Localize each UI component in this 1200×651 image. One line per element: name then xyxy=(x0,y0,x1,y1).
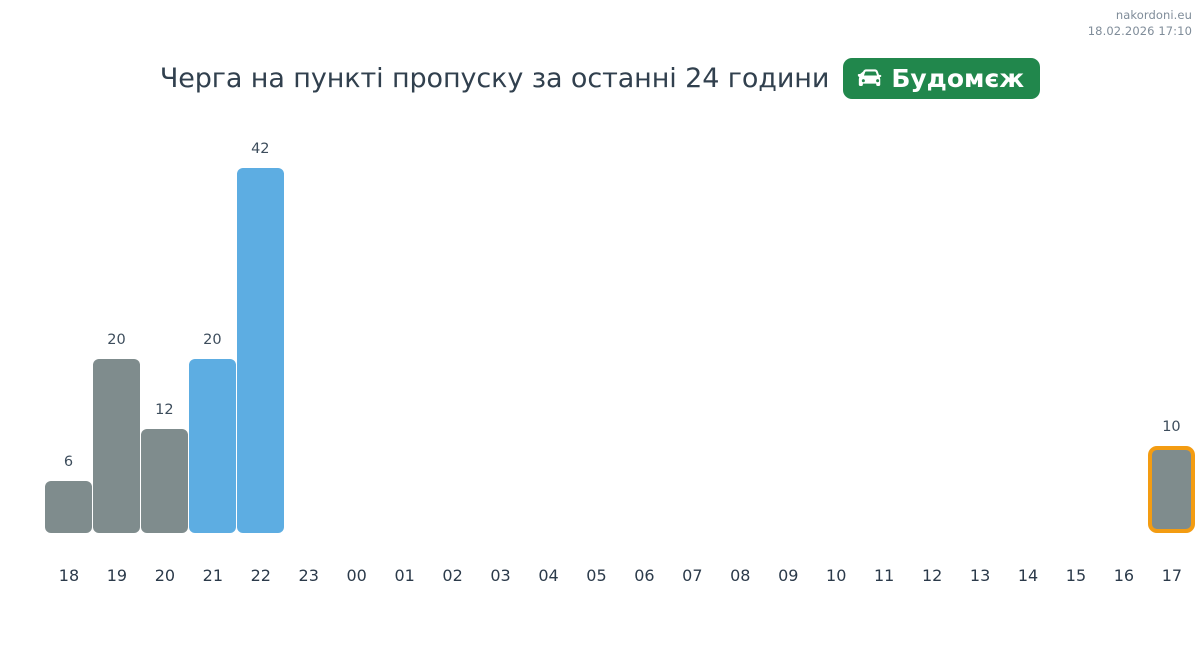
x-axis-tick-label: 10 xyxy=(813,566,860,585)
bar-slot xyxy=(668,130,716,533)
x-axis-tick-label: 19 xyxy=(93,566,140,585)
bar-slot xyxy=(1052,130,1100,533)
bar-value-label: 10 xyxy=(1148,420,1195,435)
bar-value-label: 12 xyxy=(141,403,188,418)
x-axis-tick: 09 xyxy=(764,566,812,585)
bar-slot xyxy=(525,130,573,533)
x-axis: 1819202122230001020304050607080910111213… xyxy=(45,566,1196,585)
x-axis-tick-label: 07 xyxy=(669,566,716,585)
x-axis-tick-label: 13 xyxy=(957,566,1004,585)
bar-slot xyxy=(908,130,956,533)
x-axis-tick-label: 14 xyxy=(1005,566,1052,585)
bar-slot: 10 xyxy=(1148,130,1196,533)
x-axis-tick: 12 xyxy=(908,566,956,585)
x-axis-tick-label: 18 xyxy=(45,566,92,585)
x-axis-tick: 17 xyxy=(1148,566,1196,585)
x-axis-tick-label: 15 xyxy=(1052,566,1099,585)
x-axis-tick-label: 21 xyxy=(189,566,236,585)
x-axis-tick-label: 20 xyxy=(141,566,188,585)
bar-slot: 6 xyxy=(45,130,93,533)
x-axis-tick: 20 xyxy=(141,566,189,585)
watermark-site: nakordoni.eu xyxy=(1088,8,1192,24)
bar-slot: 20 xyxy=(93,130,141,533)
chart-page: nakordoni.eu 18.02.2026 17:10 Черга на п… xyxy=(0,0,1200,651)
x-axis-tick: 05 xyxy=(572,566,620,585)
bar-slot xyxy=(716,130,764,533)
bar-value-label: 6 xyxy=(45,455,92,470)
x-axis-tick-label: 17 xyxy=(1148,566,1195,585)
bar-slot xyxy=(860,130,908,533)
x-axis-tick-label: 06 xyxy=(621,566,668,585)
x-axis-tick: 07 xyxy=(668,566,716,585)
x-axis-tick-label: 09 xyxy=(765,566,812,585)
x-axis-tick-label: 01 xyxy=(381,566,428,585)
x-axis-tick: 06 xyxy=(620,566,668,585)
bar-slot xyxy=(956,130,1004,533)
bar-value-label: 20 xyxy=(93,333,140,348)
x-axis-tick: 01 xyxy=(381,566,429,585)
x-axis-tick: 11 xyxy=(860,566,908,585)
x-axis-tick-label: 05 xyxy=(573,566,620,585)
watermark: nakordoni.eu 18.02.2026 17:10 xyxy=(1088,8,1192,39)
bar-value-label: 42 xyxy=(237,142,284,157)
title-row: Черга на пункті пропуску за останні 24 г… xyxy=(0,58,1200,99)
x-axis-tick: 04 xyxy=(525,566,573,585)
x-axis-tick: 02 xyxy=(429,566,477,585)
chart-plot-area: 62012204210 xyxy=(45,130,1196,533)
x-axis-tick: 10 xyxy=(812,566,860,585)
station-badge-label: Будомєж xyxy=(891,66,1024,91)
x-axis-tick-label: 11 xyxy=(861,566,908,585)
bar-slot xyxy=(764,130,812,533)
bar[interactable]: 42 xyxy=(237,168,284,533)
bar-slot xyxy=(429,130,477,533)
x-axis-tick-label: 08 xyxy=(717,566,764,585)
bar-slot xyxy=(1004,130,1052,533)
bar-slot xyxy=(1100,130,1148,533)
bar-slot xyxy=(572,130,620,533)
bar[interactable]: 10 xyxy=(1148,446,1195,533)
x-axis-tick: 23 xyxy=(285,566,333,585)
bar[interactable]: 20 xyxy=(93,359,140,533)
bar-slot xyxy=(477,130,525,533)
x-axis-tick-label: 16 xyxy=(1100,566,1147,585)
bar-slot: 42 xyxy=(237,130,285,533)
x-axis-tick: 18 xyxy=(45,566,93,585)
x-axis-tick: 14 xyxy=(1004,566,1052,585)
x-axis-tick: 13 xyxy=(956,566,1004,585)
car-icon xyxy=(857,68,884,88)
x-axis-tick: 15 xyxy=(1052,566,1100,585)
station-badge[interactable]: Будомєж xyxy=(843,58,1040,99)
bar-slot xyxy=(620,130,668,533)
x-axis-tick: 03 xyxy=(477,566,525,585)
bar-value-label: 20 xyxy=(189,333,236,348)
bar[interactable]: 6 xyxy=(45,481,92,533)
bar[interactable]: 20 xyxy=(189,359,236,533)
x-axis-tick-label: 00 xyxy=(333,566,380,585)
x-axis-tick-label: 12 xyxy=(909,566,956,585)
bar-slot xyxy=(285,130,333,533)
x-axis-tick-label: 23 xyxy=(285,566,332,585)
x-axis-tick: 08 xyxy=(716,566,764,585)
x-axis-tick-label: 22 xyxy=(237,566,284,585)
bar-slot xyxy=(333,130,381,533)
page-title: Черга на пункті пропуску за останні 24 г… xyxy=(160,63,830,94)
x-axis-tick: 21 xyxy=(189,566,237,585)
bar-slot xyxy=(381,130,429,533)
bar-series: 62012204210 xyxy=(45,130,1196,533)
x-axis-tick-label: 02 xyxy=(429,566,476,585)
x-axis-tick-label: 04 xyxy=(525,566,572,585)
bar-slot: 20 xyxy=(189,130,237,533)
x-axis-tick: 16 xyxy=(1100,566,1148,585)
x-axis-tick: 19 xyxy=(93,566,141,585)
x-axis-tick: 22 xyxy=(237,566,285,585)
x-axis-tick-label: 03 xyxy=(477,566,524,585)
bar-slot: 12 xyxy=(141,130,189,533)
x-axis-tick: 00 xyxy=(333,566,381,585)
bar[interactable]: 12 xyxy=(141,429,188,533)
bar-slot xyxy=(812,130,860,533)
watermark-timestamp: 18.02.2026 17:10 xyxy=(1088,24,1192,40)
